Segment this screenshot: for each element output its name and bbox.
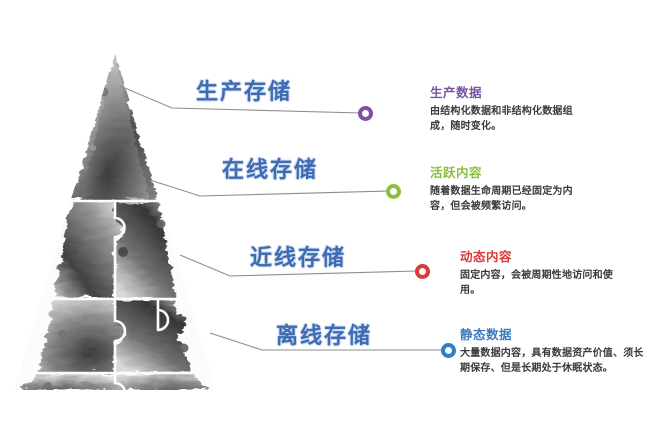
description-body-nearline: 固定内容，会被周期性地访问和使用。 — [460, 268, 620, 298]
description-block-production: 生产数据 由结构化数据和非结构化数据组成，随时变化。 — [430, 84, 590, 134]
tier-label-production: 生产存储 — [196, 74, 292, 106]
description-block-online: 活跃内容 随着数据生命周期已经固定为内容，但会被频繁访问。 — [430, 164, 590, 214]
marker-ring-nearline — [415, 264, 430, 279]
tier-label-offline: 离线存储 — [276, 318, 372, 350]
description-block-offline: 静态数据 大量数据内容，具有数据资产价值、须长期保存、但是长期处于休眠状态。 — [460, 326, 645, 376]
tier-label-online: 在线存储 — [222, 152, 318, 184]
marker-ring-production — [358, 106, 373, 121]
pyramid-puzzle-graphic — [8, 52, 223, 397]
infographic-canvas: 生产存储 在线存储 近线存储 离线存储 生产数据 由结构化数据和非结构化数据组成… — [0, 0, 660, 440]
tier-label-nearline: 近线存储 — [250, 240, 346, 272]
description-block-nearline: 动态内容 固定内容，会被周期性地访问和使用。 — [460, 248, 620, 298]
marker-ring-offline — [441, 343, 456, 358]
description-title-production: 生产数据 — [430, 84, 590, 101]
description-title-online: 活跃内容 — [430, 164, 590, 181]
description-body-production: 由结构化数据和非结构化数据组成，随时变化。 — [430, 104, 590, 134]
description-body-online: 随着数据生命周期已经固定为内容，但会被频繁访问。 — [430, 184, 590, 214]
description-title-offline: 静态数据 — [460, 326, 645, 343]
marker-ring-online — [386, 184, 401, 199]
description-body-offline: 大量数据内容，具有数据资产价值、须长期保存、但是长期处于休眠状态。 — [460, 346, 645, 376]
description-title-nearline: 动态内容 — [460, 248, 620, 265]
